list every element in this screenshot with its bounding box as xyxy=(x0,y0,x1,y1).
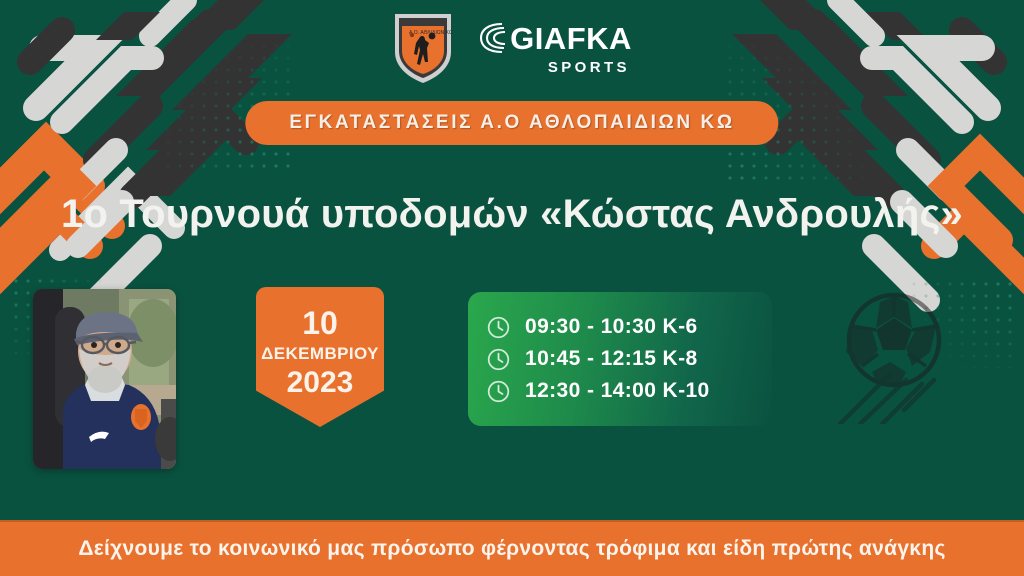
schedule-panel: 09:30 - 10:30 K-6 10:45 - 12:15 K-8 12:3… xyxy=(468,292,772,426)
date-badge: 10 ΔΕΚΕΜΒΡΙΟΥ 2023 xyxy=(256,287,384,427)
portrait-photo-image xyxy=(33,289,176,469)
footer-message: Δείχνουμε το κοινωνικό μας πρόσωπο φέρνο… xyxy=(78,537,945,561)
date-day: 10 xyxy=(302,307,338,341)
date-year: 2023 xyxy=(287,366,354,399)
footer-banner: Δείχνουμε το κοινωνικό μας πρόσωπο φέρνο… xyxy=(0,520,1024,576)
club-shield-logo: A.O. ΑΘΛ/ΔΙΩΝ ΚΩ xyxy=(392,10,454,86)
page-title: 1ο Τουρνουά υποδομών «Κώστας Ανδρουλής» xyxy=(0,192,1024,237)
clock-icon xyxy=(486,379,511,404)
portrait-photo xyxy=(33,289,176,469)
schedule-row-text: 12:30 - 14:00 K-10 xyxy=(525,379,710,403)
logo-row: A.O. ΑΘΛ/ΔΙΩΝ ΚΩ GIAFKA SPORTS xyxy=(0,8,1024,88)
giafka-subtitle: SPORTS xyxy=(548,60,632,75)
clock-icon xyxy=(486,347,511,372)
tournament-poster: A.O. ΑΘΛ/ΔΙΩΝ ΚΩ GIAFKA SPORTS ΕΓΚΑΤΑΣΤΑ… xyxy=(0,0,1024,576)
schedule-row-text: 09:30 - 10:30 K-6 xyxy=(525,315,698,339)
schedule-row: 09:30 - 10:30 K-6 xyxy=(486,315,772,340)
dot-pattern-ball xyxy=(884,278,1014,368)
schedule-row: 10:45 - 12:15 K-8 xyxy=(486,347,772,372)
giafka-speed-lines-icon xyxy=(476,21,506,55)
giafka-sports-logo: GIAFKA SPORTS xyxy=(476,21,632,75)
soccer-ball-decoration xyxy=(828,288,1008,424)
soccer-ball-icon xyxy=(828,288,1008,424)
schedule-row-text: 10:45 - 12:15 K-8 xyxy=(525,347,698,371)
venue-banner: ΕΓΚΑΤΑΣΤΑΣΕΙΣ Α.Ο ΑΘΛΟΠΑΙΔΙΩΝ ΚΩ xyxy=(245,101,778,145)
clock-icon xyxy=(486,315,511,340)
schedule-row: 12:30 - 14:00 K-10 xyxy=(486,379,772,404)
giafka-wordmark: GIAFKA xyxy=(510,23,632,54)
date-month: ΔΕΚΕΜΒΡΙΟΥ xyxy=(261,341,379,367)
